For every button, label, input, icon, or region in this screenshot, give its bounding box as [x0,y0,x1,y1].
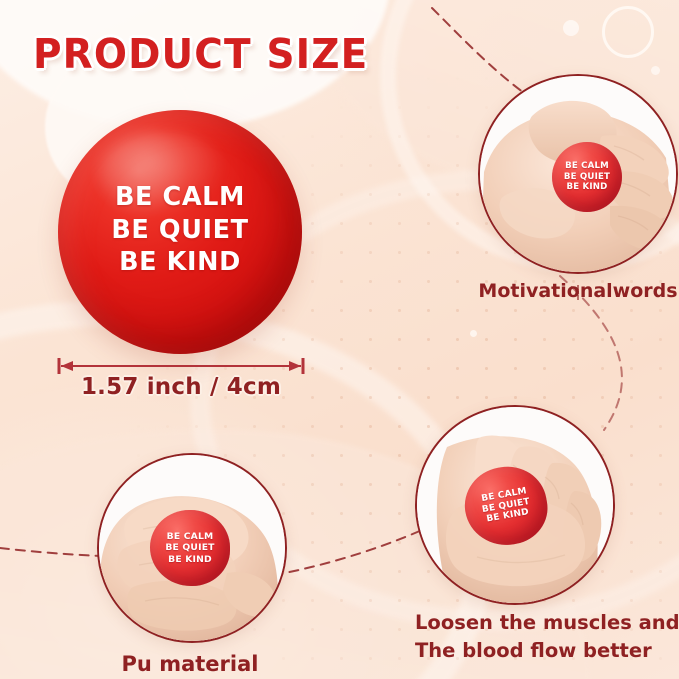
small-ball-line-3: BE KIND [564,182,610,192]
feature-pu-material: BE CALM BE QUIET BE KIND Pu material [97,453,283,643]
small-ball-text-motivational: BE CALM BE QUIET BE KIND [564,161,610,192]
feature-photo-muscle-blood-flow: BE CALM BE QUIET BE KIND [415,405,615,605]
main-ball-text: BE CALM BE QUIET BE KIND [111,181,248,279]
feature-muscle-blood-flow: BE CALM BE QUIET BE KIND Loosen the musc… [415,405,679,605]
caption-line-1: Loosen the muscles and [415,609,679,637]
feature-caption-motivational-words: Motivationalwords [478,278,677,306]
product-size-infographic: PRODUCT SIZE BE CALM BE QUIET BE KIND 1.… [0,0,679,679]
ball-text-line-2: BE QUIET [111,214,248,247]
caption-line-2: The blood flow better [415,637,679,665]
small-ball-pu-material: BE CALM BE QUIET BE KIND [150,510,230,586]
small-ball-text-muscle-blood-flow: BE CALM BE QUIET BE KIND [479,486,532,527]
feature-photo-motivational-words: BE CALM BE QUIET BE KIND [478,74,678,274]
small-ball-line-2: BE QUIET [564,172,610,182]
main-product-ball: BE CALM BE QUIET BE KIND [58,110,302,354]
dimension-ruler [56,356,306,376]
small-ball-motivational: BE CALM BE QUIET BE KIND [552,142,622,212]
small-ball-line-2: BE QUIET [165,542,214,553]
page-title: PRODUCT SIZE [33,30,368,78]
small-ball-text-pu-material: BE CALM BE QUIET BE KIND [165,531,214,565]
small-ball-line-1: BE CALM [564,161,610,171]
feature-motivational-words: BE CALM BE QUIET BE KIND Motivationalwor… [478,74,678,274]
ball-text-line-3: BE KIND [111,246,248,279]
ball-text-line-1: BE CALM [111,181,248,214]
feature-caption-pu-material: Pu material [122,649,259,679]
dimension-label: 1.57 inch / 4cm [56,374,306,400]
ruler-arrow-left-icon [61,361,73,371]
ruler-arrow-right-icon [289,361,301,371]
feature-caption-muscle-blood-flow: Loosen the muscles and The blood flow be… [415,609,679,666]
small-ball-line-3: BE KIND [165,554,214,565]
feature-photo-pu-material: BE CALM BE QUIET BE KIND [97,453,287,643]
small-ball-line-1: BE CALM [165,531,214,542]
